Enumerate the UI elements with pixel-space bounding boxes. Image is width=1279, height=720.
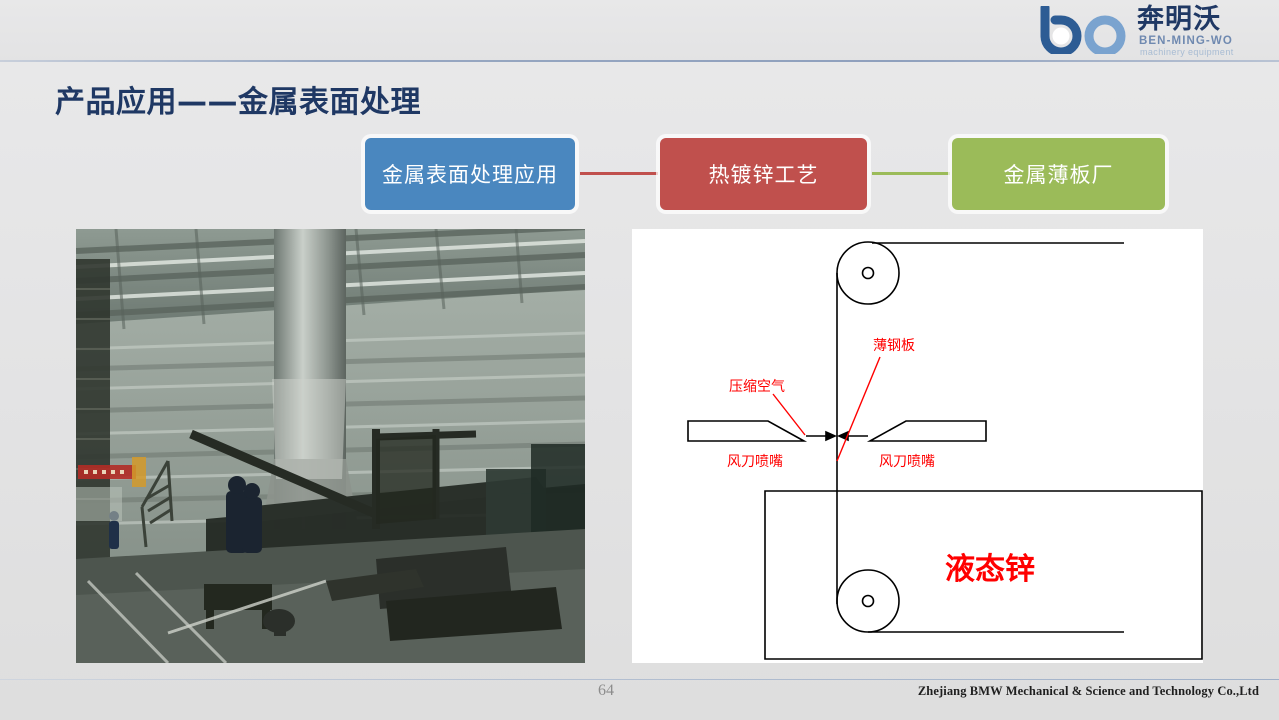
flow-chart: 金属表面处理应用 热镀锌工艺 金属薄板厂	[0, 138, 1279, 210]
diagram-label-compressed-air: 压缩空气	[729, 376, 785, 396]
flow-box-process[interactable]: 热镀锌工艺	[660, 138, 867, 210]
diagram-label-steel-sheet: 薄钢板	[873, 335, 915, 355]
diagram-label-air-knife-left: 风刀喷嘴	[727, 451, 783, 471]
footer-divider	[0, 679, 1279, 680]
logo-brand-en: BEN-MING-WO	[1139, 35, 1233, 47]
footer-company-name: Zhejiang BMW Mechanical & Science and Te…	[918, 684, 1259, 699]
flow-connector-1	[580, 172, 658, 175]
diagram-label-liquid-zinc: 液态锌	[945, 544, 1035, 588]
factory-photo	[76, 229, 585, 663]
diagram-label-air-knife-right: 风刀喷嘴	[879, 451, 935, 471]
bo-mark-icon	[1039, 6, 1135, 54]
flow-box-factory[interactable]: 金属薄板厂	[952, 138, 1165, 210]
flow-box-application[interactable]: 金属表面处理应用	[365, 138, 575, 210]
logo-tagline: machinery equipment	[1140, 47, 1234, 57]
page-title: 产品应用——金属表面处理	[55, 77, 421, 121]
company-logo: 奔明沃 BEN-MING-WO machinery equipment	[1039, 4, 1267, 58]
logo-brand-cn: 奔明沃	[1137, 4, 1221, 36]
page-number: 64	[598, 682, 614, 700]
header-divider	[0, 60, 1279, 62]
galvanizing-process-diagram: 薄钢板 压缩空气 风刀喷嘴 风刀喷嘴 液态锌	[632, 229, 1203, 663]
flow-connector-2	[872, 172, 950, 175]
